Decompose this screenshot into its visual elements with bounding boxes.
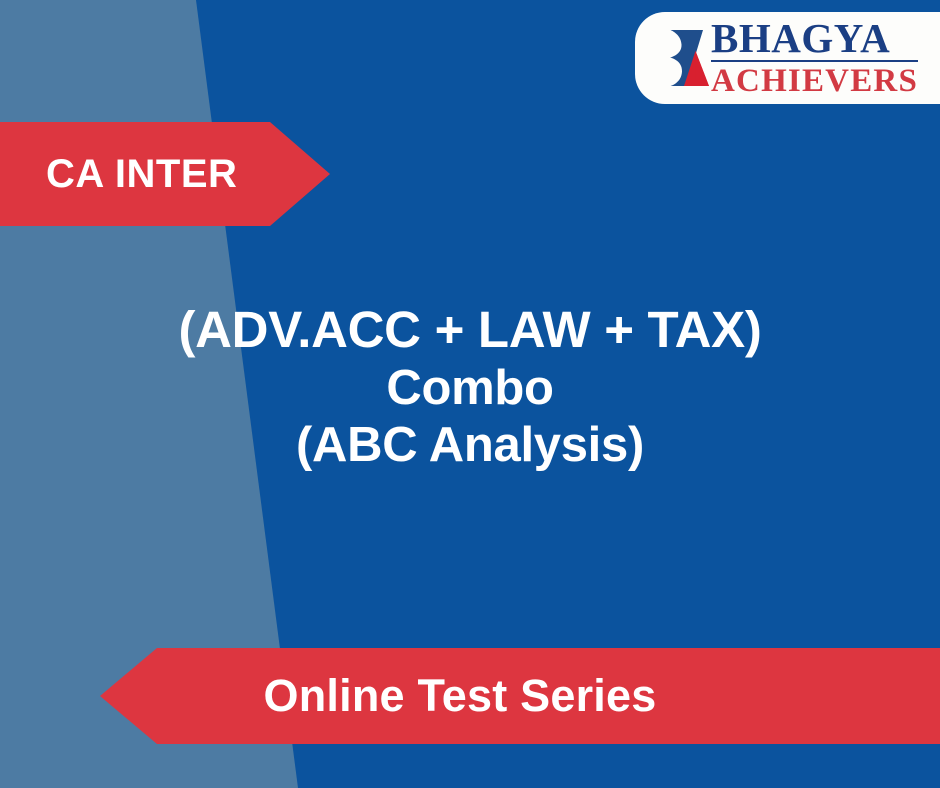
course-poster: BHAGYA ACHIEVERS CA INTER (ADV.ACC + LAW… (0, 0, 940, 788)
brand-name-secondary: ACHIEVERS (711, 65, 918, 98)
offering-type-label: Online Test Series (264, 670, 657, 722)
brand-wordmark: BHAGYA ACHIEVERS (711, 18, 918, 98)
title-line-subjects: (ADV.ACC + LAW + TAX) (40, 300, 900, 360)
poster-title: (ADV.ACC + LAW + TAX) Combo (ABC Analysi… (0, 300, 940, 474)
brand-logo-card: BHAGYA ACHIEVERS (635, 12, 940, 104)
brand-name-primary: BHAGYA (711, 18, 918, 62)
bhagya-achievers-monogram-icon (665, 29, 711, 87)
course-level-ribbon: CA INTER (0, 122, 330, 226)
title-line-analysis: (ABC Analysis) (40, 417, 900, 474)
course-level-label: CA INTER (46, 152, 237, 197)
offering-type-ribbon: Online Test Series (100, 648, 940, 744)
title-line-combo: Combo (40, 360, 900, 417)
